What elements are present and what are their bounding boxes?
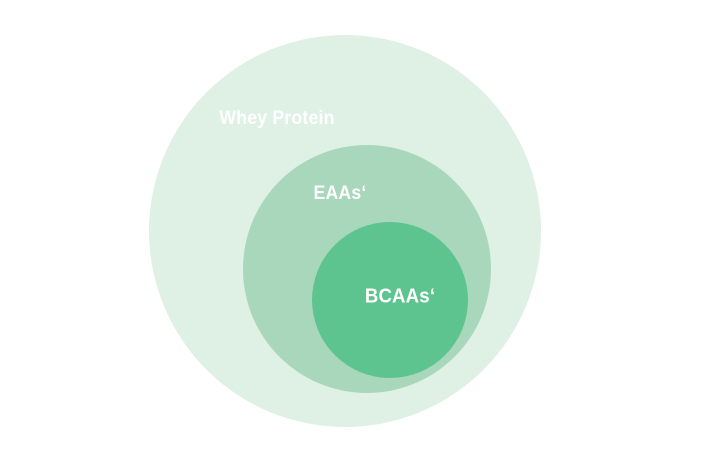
diagram-canvas — [0, 0, 702, 468]
label-whey-protein: Whey Protein — [219, 108, 334, 130]
label-eaas: EAAs‘ — [314, 183, 367, 205]
nested-circles-diagram: Whey Protein EAAs‘ BCAAs‘ — [0, 0, 702, 468]
label-bcaas: BCAAs‘ — [365, 286, 435, 309]
